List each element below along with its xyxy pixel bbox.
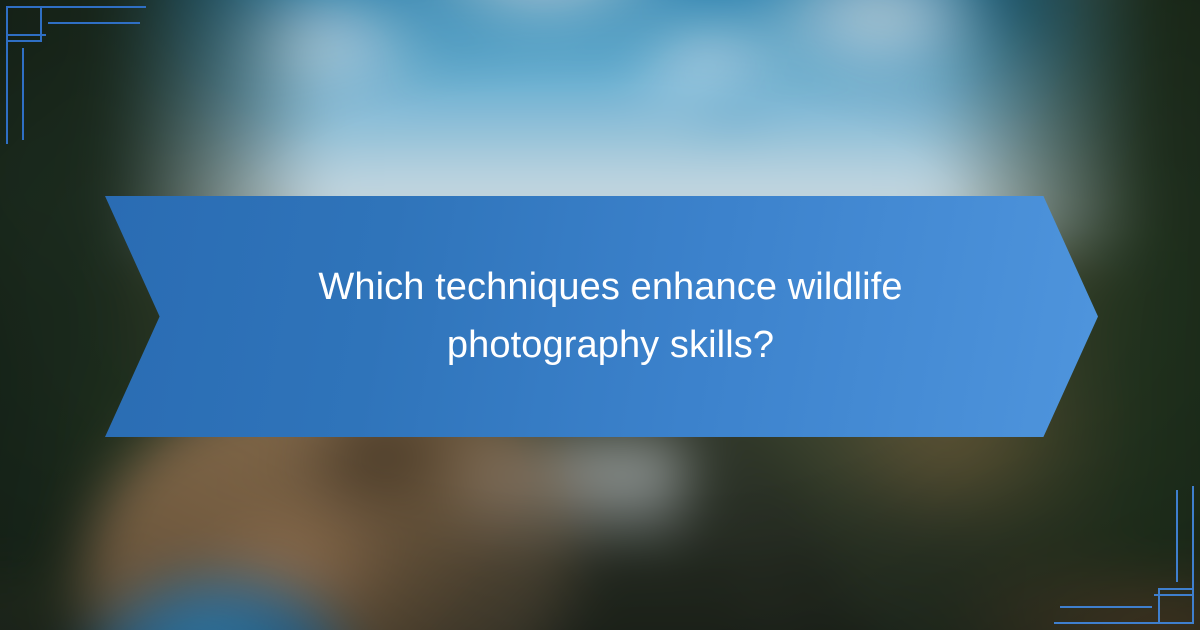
share-card: Which techniques enhance wildlife photog…	[0, 0, 1200, 630]
page-title: Which techniques enhance wildlife photog…	[291, 259, 931, 375]
headline-banner: Which techniques enhance wildlife photog…	[105, 196, 1098, 437]
